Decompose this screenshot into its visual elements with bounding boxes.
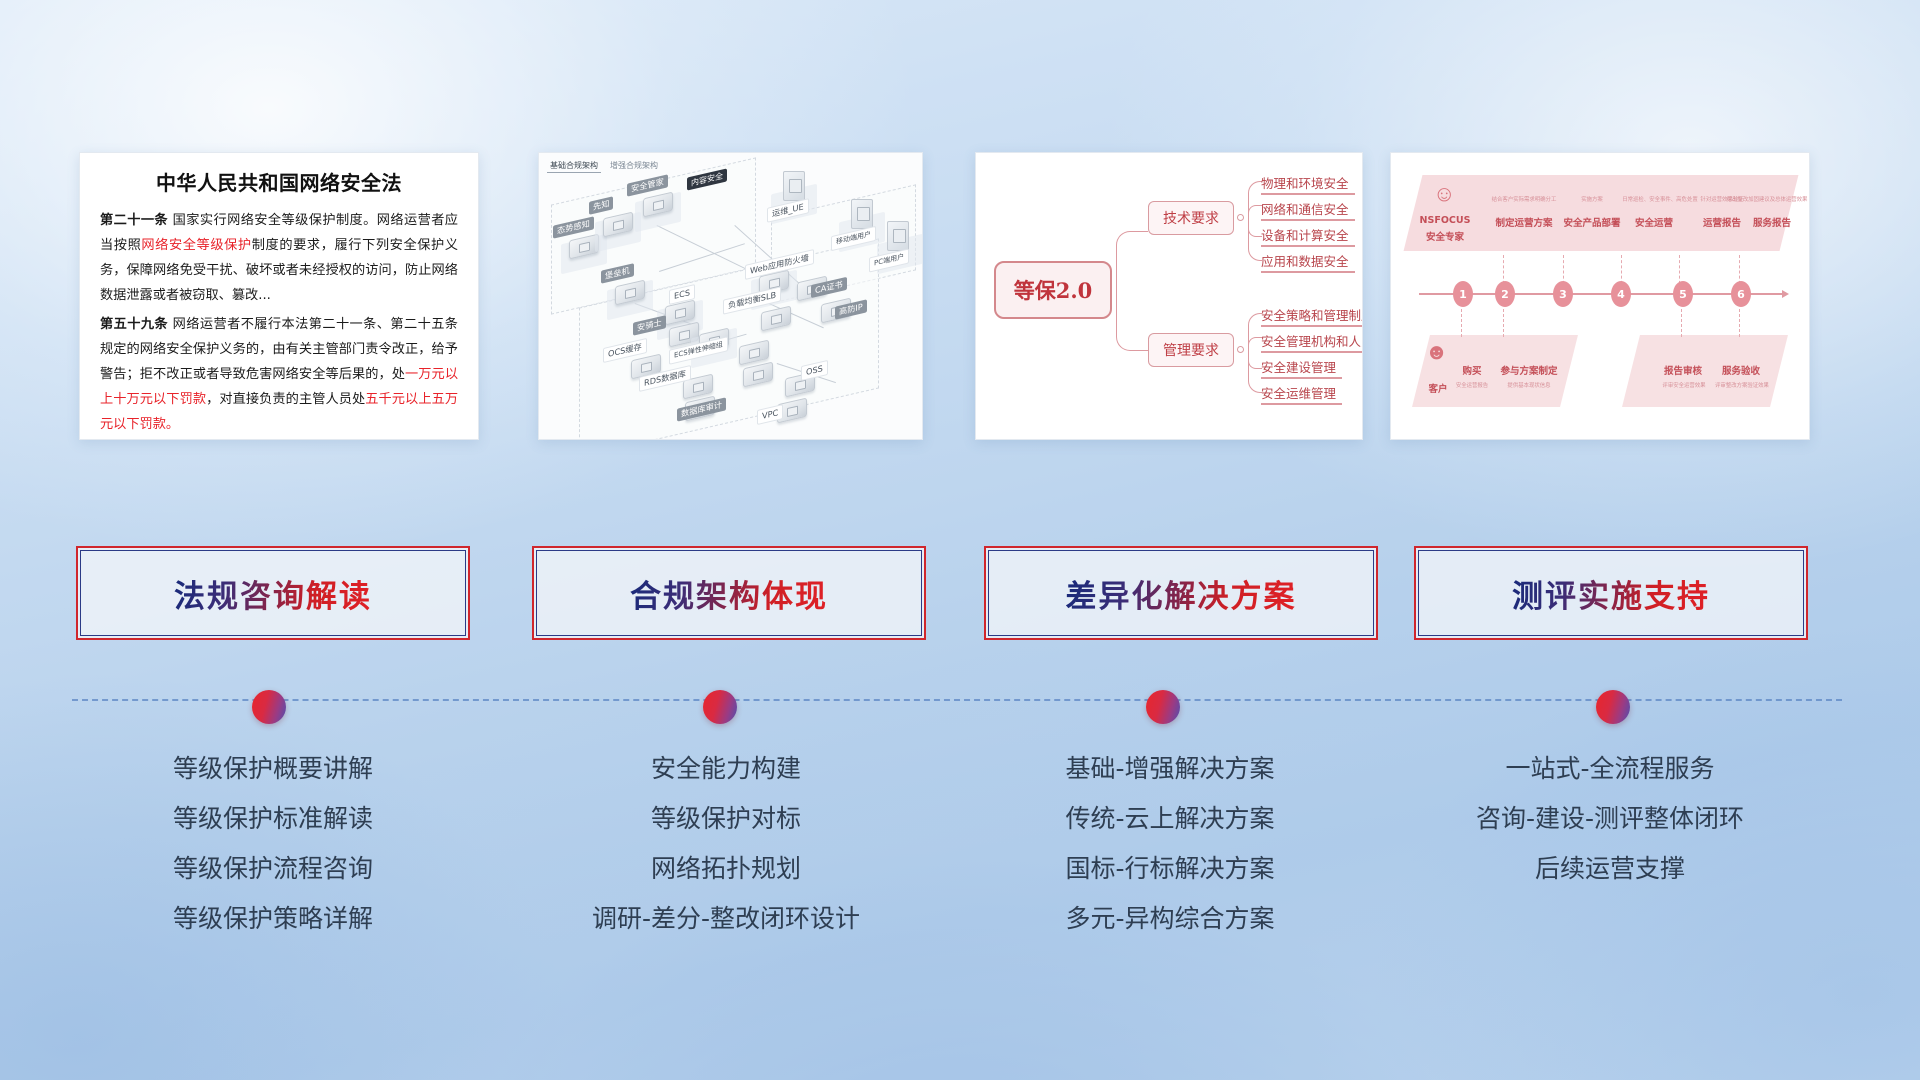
detail-list-evaluation-support: 一站式-全流程服务 咨询-建设-测评整体闭环 后续运营支撑	[1400, 744, 1820, 894]
roadmap-tick	[1461, 309, 1462, 337]
tab-enhanced-architecture[interactable]: 增强合规架构	[607, 159, 661, 173]
timeline-dot-1[interactable]	[252, 690, 286, 724]
mindmap-branch-management: 管理要求	[1148, 333, 1234, 367]
headline-box-evaluation-support[interactable]: 测评实施支持	[1414, 546, 1808, 640]
mindmap-curve	[1116, 231, 1148, 291]
timeline-dot-2[interactable]	[703, 690, 737, 724]
list-item: 后续运营支撑	[1400, 844, 1820, 894]
headline-box-compliance-architecture[interactable]: 合规架构体现	[532, 546, 926, 640]
mindmap-curve	[1248, 217, 1262, 261]
law-article-59: 第五十九条 网络运营者不履行本法第二十一条、第二十五条规定的网络安全保护义务的，…	[100, 312, 458, 437]
mindmap-leaf-org-personnel: 安全管理机构和人员	[1261, 331, 1363, 353]
list-item: 网络拓扑规划	[516, 844, 936, 894]
roadmap-bottom-sub-1: 安全运营报告	[1447, 381, 1497, 389]
law-article-59-text-2: ，对直接负责的主管人员处	[206, 392, 365, 407]
list-item: 一站式-全流程服务	[1400, 744, 1820, 794]
headline-label-2: 合规架构体现	[630, 571, 828, 616]
list-item: 多元-异构综合方案	[960, 894, 1380, 944]
mindmap-curve	[1116, 289, 1148, 351]
headline-label-1: 法规咨询解读	[174, 571, 372, 616]
roadmap-step-6: 6	[1731, 281, 1751, 307]
law-card-title: 中华人民共和国网络安全法	[100, 167, 458, 196]
mindmap-branch-technical: 技术要求	[1148, 201, 1234, 235]
list-item: 传统-云上解决方案	[960, 794, 1380, 844]
roadmap-axis	[1419, 293, 1783, 295]
timeline	[0, 690, 1920, 730]
roadmap-bottom-sub-4: 评审整改方案验证效果	[1705, 381, 1779, 389]
architecture-pc-icon	[887, 221, 909, 251]
headline-box-differentiated-solution[interactable]: 差异化解决方案	[984, 546, 1378, 640]
card-mindmap-dengbao[interactable]: 等保2.0 技术要求 管理要求 物理和环境安全 网络和通信安全 设备和计算安全 …	[975, 152, 1363, 440]
mindmap-leaf-network-comm: 网络和通信安全	[1261, 199, 1349, 221]
card-cybersecurity-law[interactable]: 中华人民共和国网络安全法 第二十一条 国家实行网络安全等级保护制度。网络运营者应…	[79, 152, 479, 440]
roadmap-bottom-label-2: 参与方案制定	[1491, 363, 1567, 377]
roadmap-actor-nsfocus: NSFOCUS	[1413, 215, 1477, 226]
mindmap-curve	[1248, 349, 1262, 393]
timeline-dot-4[interactable]	[1596, 690, 1630, 724]
slide-canvas: 中华人民共和国网络安全法 第二十一条 国家实行网络安全等级保护制度。网络运营者应…	[0, 0, 1920, 1080]
law-article-21: 第二十一条 国家实行网络安全等级保护制度。网络运营者应当按照网络安全等级保护制度…	[100, 208, 458, 308]
roadmap-tick	[1681, 309, 1682, 337]
timeline-dashed-line	[72, 699, 1842, 701]
headline-label-4: 测评实施支持	[1512, 571, 1710, 616]
roadmap-bottom-label-3: 报告审核	[1655, 363, 1711, 377]
roadmap-bottom-label-1: 购买	[1451, 363, 1493, 377]
customer-avatar-icon: ☻	[1425, 341, 1448, 363]
mindmap-root-node: 等保2.0	[994, 261, 1112, 319]
mindmap-collapse-dot[interactable]	[1237, 214, 1244, 221]
law-article-59-label: 第五十九条	[100, 317, 168, 332]
mindmap-leaf-construction-mgmt: 安全建设管理	[1261, 357, 1336, 379]
card-service-roadmap[interactable]: ☺ NSFOCUS 安全专家 结合客户实际需求明确分工 制定运营方案 实施方案 …	[1390, 152, 1810, 440]
roadmap-step-3: 3	[1553, 281, 1573, 307]
headline-box-regulation-consulting[interactable]: 法规咨询解读	[76, 546, 470, 640]
roadmap-actor-expert-role: 安全专家	[1413, 229, 1477, 243]
architecture-server-icon	[783, 171, 805, 201]
roadmap-top-sub-5: 给出整改加固建议及总体运营效果	[1709, 195, 1810, 203]
roadmap-step-4: 4	[1611, 281, 1631, 307]
law-article-21-label: 第二十一条	[100, 213, 168, 228]
list-item: 等级保护概要讲解	[63, 744, 483, 794]
architecture-mobile-icon	[851, 199, 873, 229]
mindmap-leaf-operation-mgmt: 安全运维管理	[1261, 383, 1336, 405]
roadmap-tick	[1739, 309, 1740, 337]
list-item: 安全能力构建	[516, 744, 936, 794]
list-item: 咨询-建设-测评整体闭环	[1400, 794, 1820, 844]
list-item: 等级保护对标	[516, 794, 936, 844]
roadmap-top-label-5: 服务报告	[1741, 215, 1803, 229]
roadmap-top-label-3: 安全运营	[1619, 215, 1689, 229]
list-item: 等级保护标准解读	[63, 794, 483, 844]
card-compliance-architecture[interactable]: 基础合规架构 增强合规架构 态势感知	[538, 152, 923, 440]
roadmap-bottom-label-4: 服务验收	[1713, 363, 1769, 377]
detail-list-compliance-architecture: 安全能力构建 等级保护对标 网络拓扑规划 调研-差分-整改闭环设计	[516, 744, 936, 944]
detail-list-differentiated-solution: 基础-增强解决方案 传统-云上解决方案 国标-行标解决方案 多元-异构综合方案	[960, 744, 1380, 944]
thumbnail-cards-row: 中华人民共和国网络安全法 第二十一条 国家实行网络安全等级保护制度。网络运营者应…	[0, 152, 1920, 442]
roadmap-tick	[1503, 309, 1504, 337]
roadmap-step-2: 2	[1495, 281, 1515, 307]
expert-avatar-icon: ☺	[1433, 183, 1455, 205]
tab-basic-architecture[interactable]: 基础合规架构	[547, 159, 601, 173]
roadmap-bottom-sub-2: 提供基本现状信息	[1495, 381, 1563, 389]
list-item: 国标-行标解决方案	[960, 844, 1380, 894]
law-article-21-highlight: 网络安全等级保护	[141, 238, 251, 253]
headline-label-3: 差异化解决方案	[1066, 571, 1297, 616]
detail-lists-row: 等级保护概要讲解 等级保护标准解读 等级保护流程咨询 等级保护策略详解 安全能力…	[0, 744, 1920, 974]
list-item: 等级保护策略详解	[63, 894, 483, 944]
headline-row: 法规咨询解读 合规架构体现 差异化解决方案 测评实施支持	[0, 546, 1920, 646]
architecture-tabs: 基础合规架构 增强合规架构	[547, 159, 661, 173]
mindmap-leaf-device-compute: 设备和计算安全	[1261, 225, 1349, 247]
mindmap-leaf-physical-env: 物理和环境安全	[1261, 173, 1349, 195]
roadmap-content: ☺ NSFOCUS 安全专家 结合客户实际需求明确分工 制定运营方案 实施方案 …	[1391, 153, 1809, 439]
mindmap-leaf-app-data: 应用和数据安全	[1261, 251, 1349, 273]
list-item: 基础-增强解决方案	[960, 744, 1380, 794]
list-item: 等级保护流程咨询	[63, 844, 483, 894]
roadmap-step-5: 5	[1673, 281, 1693, 307]
architecture-diagram: 基础合规架构 增强合规架构 态势感知	[539, 153, 922, 439]
detail-list-regulation-consulting: 等级保护概要讲解 等级保护标准解读 等级保护流程咨询 等级保护策略详解	[63, 744, 483, 944]
list-item: 调研-差分-整改闭环设计	[516, 894, 936, 944]
timeline-dot-3[interactable]	[1146, 690, 1180, 724]
mindmap-collapse-dot[interactable]	[1237, 346, 1244, 353]
mindmap-leaf-policy-system: 安全策略和管理制度	[1261, 305, 1363, 327]
roadmap-step-1: 1	[1453, 281, 1473, 307]
